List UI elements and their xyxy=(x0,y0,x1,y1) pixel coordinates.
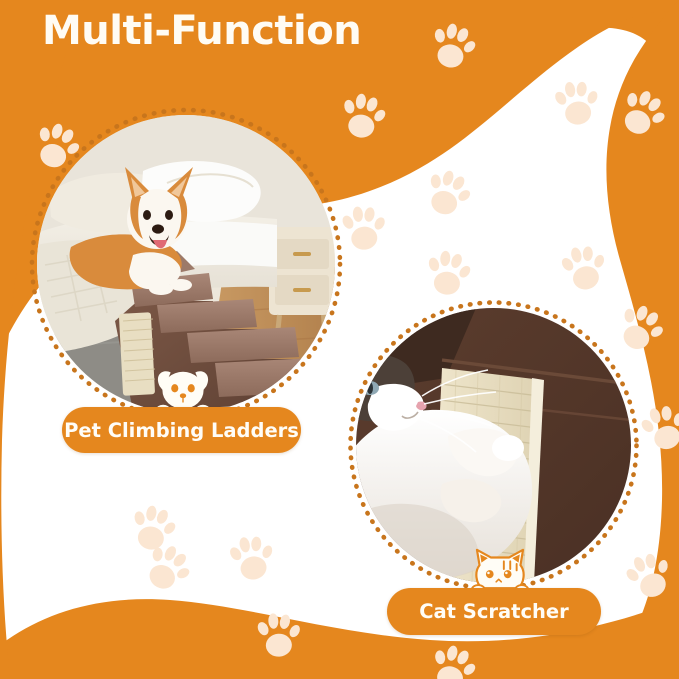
feature-label-pet-climbing-ladders[interactable]: Pet Climbing Ladders xyxy=(62,407,301,453)
page-title: Multi-Function xyxy=(42,8,361,54)
feature-label-text: Cat Scratcher xyxy=(419,600,569,623)
infographic-canvas: Multi-Function xyxy=(0,0,679,679)
dotted-ring xyxy=(345,297,642,594)
dotted-ring xyxy=(26,104,346,424)
feature-photo-pet-climbing-ladders xyxy=(26,104,346,424)
feature-label-text: Pet Climbing Ladders xyxy=(64,419,299,442)
feature-label-cat-scratcher[interactable]: Cat Scratcher xyxy=(387,588,601,635)
feature-photo-cat-scratcher xyxy=(345,297,642,594)
